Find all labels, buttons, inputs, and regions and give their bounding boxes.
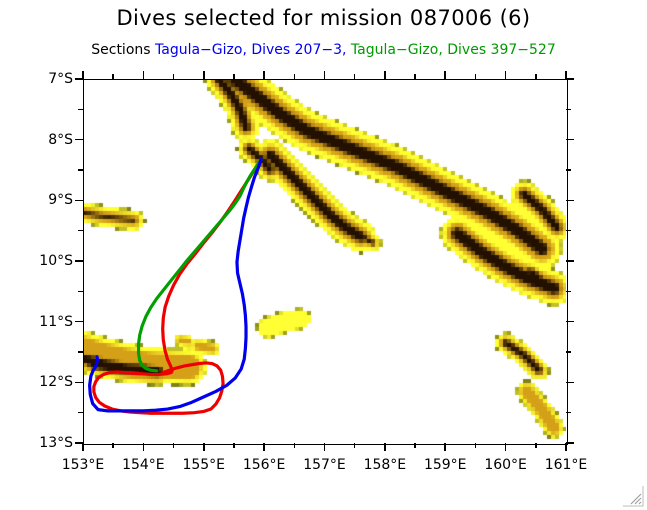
chart-subtitle: Sections Tagula−Gizo, Dives 207−3, Tagul… — [0, 42, 647, 58]
x-axis-tick — [505, 443, 507, 451]
y-axis-minor-tick — [566, 291, 571, 293]
x-axis-minor-tick — [414, 74, 416, 79]
y-axis-tick — [75, 321, 83, 323]
x-axis-minor-tick — [354, 443, 356, 448]
x-axis-tick — [143, 71, 145, 79]
subtitle-prefix: Sections — [91, 42, 155, 58]
y-axis-tick — [566, 200, 574, 202]
y-axis-tick — [566, 382, 574, 384]
x-axis-minor-tick — [233, 443, 235, 448]
x-axis-tick — [263, 71, 265, 79]
x-axis-label: 153°E — [62, 457, 105, 473]
y-axis-minor-tick — [566, 109, 571, 111]
y-axis-minor-tick — [78, 169, 83, 171]
x-axis-minor-tick — [475, 74, 477, 79]
y-axis-tick — [566, 139, 574, 141]
y-axis-label: 12°S — [21, 374, 73, 390]
x-axis-tick — [82, 71, 84, 79]
x-axis-tick — [384, 443, 386, 451]
y-axis-minor-tick — [566, 412, 571, 414]
y-axis-minor-tick — [78, 291, 83, 293]
y-axis-minor-tick — [78, 412, 83, 414]
x-axis-minor-tick — [112, 74, 114, 79]
y-axis-minor-tick — [566, 169, 571, 171]
y-axis-tick — [75, 200, 83, 202]
x-axis-tick — [565, 71, 567, 79]
x-axis-minor-tick — [233, 74, 235, 79]
y-axis-tick — [566, 78, 574, 80]
x-axis-minor-tick — [294, 443, 296, 448]
x-axis-minor-tick — [112, 443, 114, 448]
y-axis-label: 8°S — [21, 132, 73, 148]
x-axis-minor-tick — [294, 74, 296, 79]
y-axis-label: 10°S — [21, 253, 73, 269]
y-axis-tick — [75, 260, 83, 262]
page-title: Dives selected for mission 087006 (6) — [0, 6, 647, 30]
y-axis-tick — [566, 442, 574, 444]
y-axis-label: 11°S — [21, 314, 73, 330]
y-axis-label: 13°S — [21, 435, 73, 451]
y-axis-tick — [566, 321, 574, 323]
x-axis-label: 158°E — [364, 457, 407, 473]
x-axis-tick — [82, 443, 84, 451]
y-axis-minor-tick — [78, 351, 83, 353]
y-axis-minor-tick — [78, 230, 83, 232]
x-axis-label: 160°E — [484, 457, 527, 473]
y-axis-label: 7°S — [21, 71, 73, 87]
x-axis-label: 159°E — [424, 457, 467, 473]
map-plot-area — [83, 79, 566, 443]
x-axis-tick — [444, 71, 446, 79]
x-axis-label: 155°E — [182, 457, 225, 473]
x-axis-label: 157°E — [303, 457, 346, 473]
x-axis-tick — [263, 443, 265, 451]
x-axis-tick — [324, 443, 326, 451]
x-axis-tick — [444, 443, 446, 451]
y-axis-minor-tick — [566, 230, 571, 232]
x-axis-minor-tick — [354, 74, 356, 79]
x-axis-tick — [203, 443, 205, 451]
dive-track-overlay — [83, 79, 566, 443]
x-axis-tick — [505, 71, 507, 79]
resize-grip-icon[interactable] — [622, 485, 644, 507]
y-axis-minor-tick — [78, 109, 83, 111]
x-axis-minor-tick — [475, 443, 477, 448]
y-axis-tick — [75, 382, 83, 384]
x-axis-label: 161°E — [545, 457, 588, 473]
x-axis-minor-tick — [173, 443, 175, 448]
x-axis-label: 156°E — [243, 457, 286, 473]
x-axis-minor-tick — [535, 74, 537, 79]
y-axis-tick — [75, 139, 83, 141]
x-axis-tick — [384, 71, 386, 79]
x-axis-tick — [203, 71, 205, 79]
x-axis-minor-tick — [535, 443, 537, 448]
dive-track — [139, 160, 262, 371]
x-axis-tick — [143, 443, 145, 451]
x-axis-label: 154°E — [122, 457, 165, 473]
y-axis-tick — [566, 260, 574, 262]
x-axis-tick — [324, 71, 326, 79]
figure-root: Dives selected for mission 087006 (6) Se… — [0, 0, 647, 510]
y-axis-minor-tick — [566, 351, 571, 353]
y-axis-label: 9°S — [21, 192, 73, 208]
x-axis-minor-tick — [173, 74, 175, 79]
x-axis-minor-tick — [414, 443, 416, 448]
x-axis-tick — [565, 443, 567, 451]
subtitle-section-b: Tagula−Gizo, Dives 397−527 — [346, 42, 555, 58]
subtitle-section-a: Tagula−Gizo, Dives 207−3, — [155, 42, 346, 58]
